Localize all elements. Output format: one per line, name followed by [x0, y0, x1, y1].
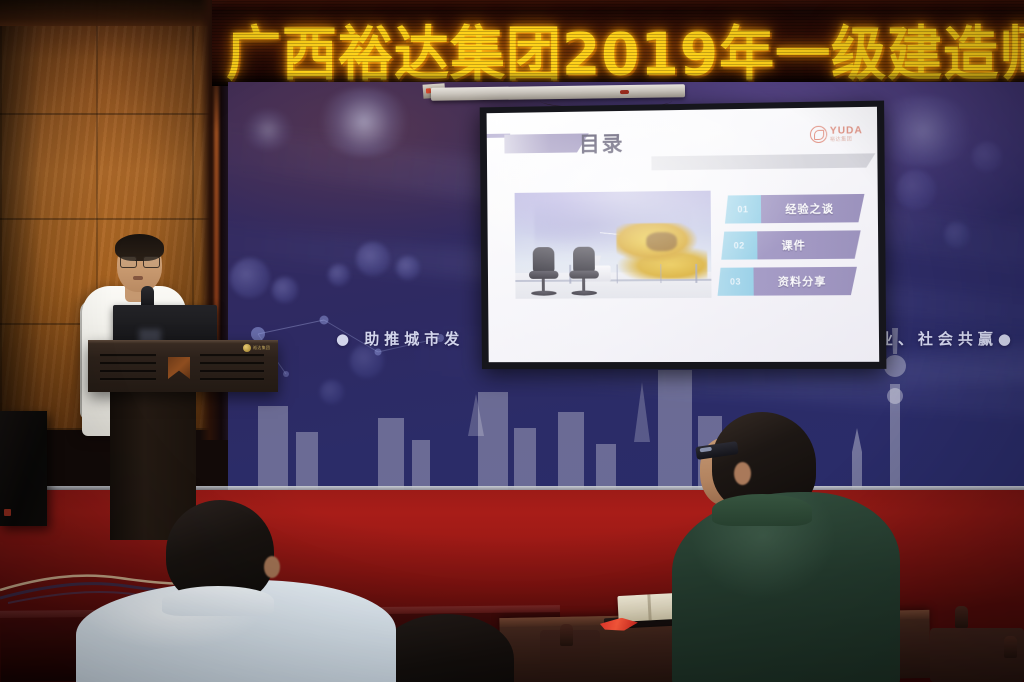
agenda-item: 02 课件	[721, 230, 861, 259]
audience-right-collar	[712, 494, 812, 526]
chair-post	[1004, 636, 1017, 658]
photo-railing-post	[695, 264, 697, 283]
podium-groove	[100, 370, 156, 373]
eyeglass-lens-right	[143, 256, 160, 268]
presentation-slide: 目录 YUDA 裕达集团	[487, 107, 880, 362]
gold-terrain-shadow	[646, 232, 678, 251]
agenda-label: 经验之谈	[761, 194, 865, 223]
audience-member-left	[86, 500, 406, 682]
agenda-number: 01	[725, 195, 761, 223]
projection-screen: 目录 YUDA 裕达集团	[480, 101, 887, 370]
book-spine	[647, 594, 651, 620]
chair-stem	[583, 278, 586, 290]
chair-stem	[542, 279, 545, 291]
podium-groove	[200, 354, 264, 357]
backdrop-bokeh	[272, 277, 298, 303]
agenda-item: 01 经验之谈	[725, 194, 865, 224]
eyeglass-lens-left	[120, 256, 137, 268]
agenda-label: 资料分享	[753, 267, 857, 296]
backdrop-bokeh	[972, 142, 1002, 172]
chair-back	[533, 247, 555, 273]
chair-base	[531, 290, 557, 295]
led-banner: 广西裕达集团2019年一级建造师考前交流培	[212, 0, 1024, 86]
podium-groove	[100, 362, 156, 365]
audience-left-ear	[264, 556, 280, 578]
audience-right-ear	[734, 462, 751, 485]
backdrop-left-text: ● 助推城市发	[336, 328, 464, 349]
yuda-logo-text: YUDA 裕达集团	[830, 126, 863, 143]
agenda-item: 03 资料分享	[717, 267, 857, 296]
agenda-label: 课件	[757, 230, 861, 259]
presenter-mouth	[133, 276, 143, 280]
screen-surface: 目录 YUDA 裕达集团	[487, 107, 880, 362]
audience-left-collar	[162, 586, 274, 616]
loudspeaker-cabinet	[0, 411, 47, 526]
chair-back	[573, 246, 595, 272]
yuda-logo: YUDA 裕达集团	[810, 125, 863, 143]
chair-seat	[529, 271, 559, 279]
chair-post	[560, 624, 573, 646]
backdrop-bokeh	[944, 222, 970, 248]
backdrop-bokeh	[356, 242, 390, 276]
podium-groove	[100, 378, 156, 381]
backdrop-bokeh	[328, 264, 350, 286]
backdrop-bokeh	[896, 170, 936, 210]
loudspeaker-badge	[4, 509, 11, 516]
backdrop-sparkle	[316, 88, 412, 156]
slide-title: 目录	[579, 128, 625, 159]
podium-groove	[200, 370, 264, 373]
presenter-eyeglasses	[120, 256, 160, 267]
audience-member-right	[672, 408, 922, 682]
chair-seat	[570, 270, 600, 278]
podium-groove	[200, 378, 264, 381]
backdrop-bokeh	[230, 258, 270, 298]
podium-groove	[200, 362, 264, 365]
chair-post	[955, 606, 968, 628]
eyeglass-bridge	[135, 260, 143, 261]
slide-photo	[515, 191, 712, 299]
podium-groove	[100, 354, 156, 357]
photo-chair	[533, 247, 559, 296]
backdrop-bokeh	[396, 256, 420, 280]
slide-grey-band	[651, 153, 875, 170]
yuda-logo-icon	[810, 126, 827, 143]
podium-logo: 裕达集团	[243, 344, 270, 352]
agenda-number: 02	[721, 231, 757, 259]
chair-base	[572, 290, 598, 295]
backdrop-sparkle	[242, 110, 294, 150]
conference-hall-photo: 广西裕达集团2019年一级建造师考前交流培	[0, 0, 1024, 682]
photo-railing-post	[660, 264, 662, 283]
podium-logo-icon	[243, 344, 251, 352]
agenda-number: 03	[717, 268, 753, 296]
photo-railing-post	[617, 264, 619, 283]
backdrop-right-text: 业、社会共赢●	[878, 328, 1016, 349]
photo-chair	[573, 246, 599, 295]
logo-main-text: YUDA	[830, 126, 863, 137]
logo-sub-text: 裕达集团	[830, 137, 863, 143]
eyeglass-reflection	[700, 447, 712, 453]
slide-title-tab	[504, 133, 589, 153]
podium-logo-text: 裕达集团	[253, 345, 270, 351]
